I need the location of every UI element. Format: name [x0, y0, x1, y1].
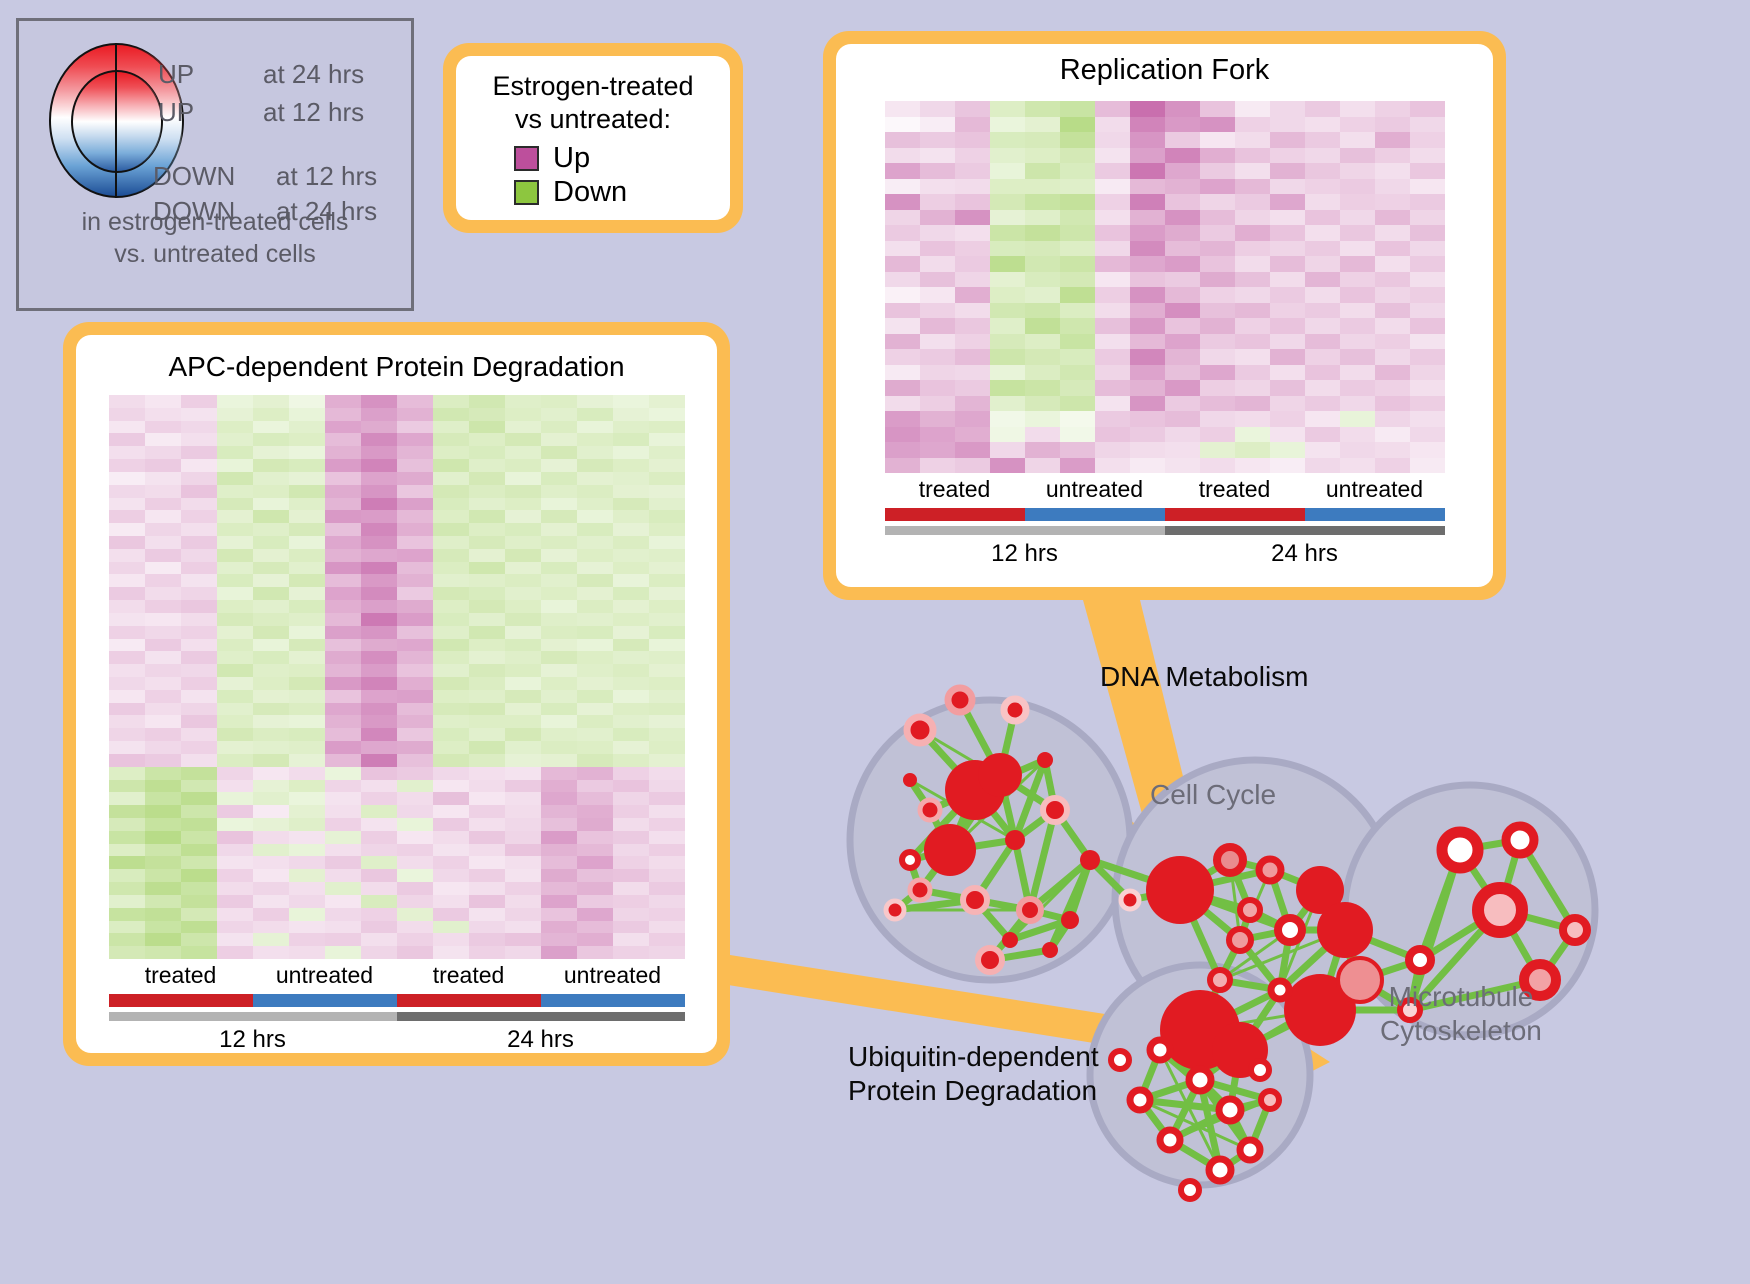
heatmap-cell	[361, 715, 397, 728]
heatmap-cell	[1410, 101, 1445, 117]
heatmap-cell	[1410, 334, 1445, 350]
heatmap-cell	[361, 844, 397, 857]
heatmap-cell	[397, 613, 433, 626]
heatmap-cell	[613, 754, 649, 767]
group-label-treated-12: treated	[885, 473, 1025, 506]
heatmap-cell	[217, 677, 253, 690]
replication-fork-group-bars	[885, 508, 1445, 521]
heatmap-cell	[109, 895, 145, 908]
heatmap-cell	[613, 574, 649, 587]
heatmap-cell	[1340, 241, 1375, 257]
heatmap-cell	[577, 446, 613, 459]
heatmap-cell	[325, 510, 361, 523]
heatmap-cell	[1410, 287, 1445, 303]
heatmap-cell	[145, 895, 181, 908]
heatmap-cell	[289, 562, 325, 575]
heatmap-cell	[397, 908, 433, 921]
heatmap-cell	[361, 498, 397, 511]
heatmap-cell	[577, 844, 613, 857]
heatmap-cell	[109, 844, 145, 857]
heatmap-cell	[920, 101, 955, 117]
heatmap-cell	[181, 690, 217, 703]
heatmap-cell	[541, 805, 577, 818]
heatmap-cell	[990, 427, 1025, 443]
heatmap-cell	[541, 690, 577, 703]
heatmap-cell	[325, 421, 361, 434]
heatmap-cell	[469, 664, 505, 677]
heatmap-cell	[1305, 334, 1340, 350]
heatmap-cell	[577, 869, 613, 882]
heatmap-cell	[217, 498, 253, 511]
heatmap-cell	[955, 117, 990, 133]
heatmap-cell	[1340, 163, 1375, 179]
heatmap-cell	[433, 626, 469, 639]
heatmap-cell	[253, 395, 289, 408]
heatmap-cell	[577, 600, 613, 613]
heatmap-cell	[1095, 117, 1130, 133]
color-key-box: UP at 24 hrs UP at 12 hrs DOWN at 12 hrs…	[16, 18, 414, 311]
heatmap-cell	[1235, 101, 1270, 117]
heatmap-cell	[505, 869, 541, 882]
heatmap-cell	[613, 818, 649, 831]
heatmap-cell	[289, 498, 325, 511]
heatmap-cell	[433, 818, 469, 831]
heatmap-cell	[920, 287, 955, 303]
heatmap-cell	[613, 869, 649, 882]
heatmap-cell	[1340, 179, 1375, 195]
heatmap-cell	[1025, 225, 1060, 241]
heatmap-cell	[577, 690, 613, 703]
heatmap-cell	[145, 408, 181, 421]
heatmap-cell	[361, 485, 397, 498]
heatmap-cell	[541, 882, 577, 895]
heatmap-cell	[361, 703, 397, 716]
heatmap-cell	[885, 442, 920, 458]
heatmap-cell	[325, 639, 361, 652]
heatmap-cell	[109, 639, 145, 652]
heatmap-cell	[577, 856, 613, 869]
heatmap-cell	[541, 613, 577, 626]
heatmap-cell	[289, 767, 325, 780]
heatmap-cell	[1025, 117, 1060, 133]
heatmap-cell	[613, 600, 649, 613]
heatmap-cell	[145, 472, 181, 485]
heatmap-cell	[1025, 427, 1060, 443]
heatmap-cell	[253, 805, 289, 818]
heatmap-cell	[397, 844, 433, 857]
heatmap-cell	[1375, 334, 1410, 350]
heatmap-cell	[1025, 194, 1060, 210]
heatmap-cell	[1340, 442, 1375, 458]
heatmap-cell	[885, 225, 920, 241]
heatmap-cell	[1340, 256, 1375, 272]
heatmap-cell	[1340, 458, 1375, 474]
heatmap-cell	[253, 741, 289, 754]
heatmap-cell	[649, 459, 685, 472]
heatmap-cell	[397, 459, 433, 472]
heatmap-cell	[217, 600, 253, 613]
heatmap-cell	[433, 613, 469, 626]
heatmap-cell	[1305, 349, 1340, 365]
heatmap-cell	[145, 818, 181, 831]
heatmap-cell	[469, 677, 505, 690]
heatmap-cell	[469, 395, 505, 408]
heatmap-cell	[1375, 396, 1410, 412]
heatmap-cell	[145, 613, 181, 626]
heatmap-cell	[253, 767, 289, 780]
heatmap-cell	[469, 908, 505, 921]
heatmap-cell	[1095, 163, 1130, 179]
heatmap-cell	[181, 715, 217, 728]
heatmap-cell	[1410, 303, 1445, 319]
heatmap-cell	[505, 395, 541, 408]
heatmap-cell	[1410, 256, 1445, 272]
heatmap-cell	[145, 831, 181, 844]
heatmap-cell	[541, 421, 577, 434]
heatmap-cell	[1410, 411, 1445, 427]
heatmap-cell	[1025, 411, 1060, 427]
heatmap-cell	[253, 703, 289, 716]
heatmap-cell	[649, 818, 685, 831]
heatmap-cell	[253, 831, 289, 844]
heatmap-cell	[1305, 303, 1340, 319]
heatmap-cell	[577, 421, 613, 434]
heatmap-cell	[397, 549, 433, 562]
heatmap-cell	[1375, 210, 1410, 226]
apc-group-label-untreated-12: untreated	[253, 959, 397, 992]
heatmap-cell	[990, 117, 1025, 133]
heatmap-cell	[613, 472, 649, 485]
heatmap-cell	[109, 613, 145, 626]
legend-title: Estrogen-treated vs untreated:	[456, 56, 730, 136]
heatmap-cell	[433, 446, 469, 459]
heatmap-cell	[109, 651, 145, 664]
heatmap-cell	[1130, 225, 1165, 241]
heatmap-cell	[1060, 303, 1095, 319]
heatmap-cell	[1270, 272, 1305, 288]
heatmap-cell	[1200, 132, 1235, 148]
heatmap-cell	[1025, 396, 1060, 412]
heatmap-cell	[505, 639, 541, 652]
heatmap-cell	[613, 767, 649, 780]
heatmap-cell	[361, 664, 397, 677]
heatmap-cell	[1375, 303, 1410, 319]
heatmap-cell	[1025, 458, 1060, 474]
heatmap-cell	[145, 498, 181, 511]
heatmap-cell	[1095, 272, 1130, 288]
heatmap-cell	[649, 715, 685, 728]
heatmap-cell	[217, 767, 253, 780]
heatmap-cell	[920, 427, 955, 443]
heatmap-cell	[469, 446, 505, 459]
heatmap-cell	[145, 421, 181, 434]
heatmap-cell	[145, 433, 181, 446]
heatmap-cell	[109, 856, 145, 869]
heatmap-cell	[469, 792, 505, 805]
heatmap-cell	[649, 741, 685, 754]
heatmap-cell	[289, 780, 325, 793]
heatmap-cell	[469, 408, 505, 421]
heatmap-cell	[469, 562, 505, 575]
heatmap-cell	[1095, 380, 1130, 396]
heatmap-cell	[217, 754, 253, 767]
heatmap-cell	[1235, 179, 1270, 195]
heatmap-cell	[1165, 179, 1200, 195]
heatmap-cell	[1235, 303, 1270, 319]
heatmap-cell	[145, 792, 181, 805]
heatmap-cell	[1200, 411, 1235, 427]
heatmap-cell	[541, 869, 577, 882]
heatmap-cell	[109, 459, 145, 472]
heatmap-cell	[433, 780, 469, 793]
heatmap-cell	[253, 921, 289, 934]
heatmap-cell	[289, 856, 325, 869]
heatmap-cell	[1165, 241, 1200, 257]
heatmap-cell	[1200, 349, 1235, 365]
heatmap-cell	[181, 626, 217, 639]
heatmap-cell	[181, 869, 217, 882]
heatmap-cell	[541, 574, 577, 587]
heatmap-cell	[217, 639, 253, 652]
heatmap-cell	[289, 626, 325, 639]
heatmap-cell	[181, 549, 217, 562]
heatmap-cell	[325, 574, 361, 587]
heatmap-cell	[397, 831, 433, 844]
network-diagram: DNA Metabolism Cell Cycle Microtubule Cy…	[800, 610, 1750, 1279]
heatmap-cell	[1270, 318, 1305, 334]
heatmap-cell	[990, 241, 1025, 257]
heatmap-cell	[217, 818, 253, 831]
heatmap-cell	[1305, 380, 1340, 396]
heatmap-cell	[145, 562, 181, 575]
heatmap-cell	[145, 933, 181, 946]
heatmap-cell	[217, 933, 253, 946]
heatmap-cell	[990, 194, 1025, 210]
heatmap-cell	[361, 818, 397, 831]
heatmap-cell	[885, 194, 920, 210]
heatmap-cell	[505, 703, 541, 716]
heatmap-cell	[613, 703, 649, 716]
apc-group-bar-untreated-12	[253, 994, 397, 1007]
heatmap-cell	[1095, 241, 1130, 257]
heatmap-cell	[541, 510, 577, 523]
heatmap-cell	[109, 600, 145, 613]
heatmap-cell	[433, 574, 469, 587]
heatmap-cell	[1200, 117, 1235, 133]
heatmap-cell	[1130, 101, 1165, 117]
heatmap-cell	[181, 805, 217, 818]
heatmap-cell	[613, 780, 649, 793]
cluster-label-ubiquitin-protein-degradation: Ubiquitin-dependent Protein Degradation	[848, 1040, 1099, 1108]
heatmap-cell	[1060, 287, 1095, 303]
heatmap-cell	[145, 741, 181, 754]
heatmap-cell	[325, 677, 361, 690]
time-bar-24hrs	[1165, 526, 1445, 535]
heatmap-cell	[181, 792, 217, 805]
heatmap-cell	[1200, 241, 1235, 257]
apc-group-bar-treated-12	[109, 994, 253, 1007]
heatmap-cell	[1340, 272, 1375, 288]
heatmap-cell	[397, 818, 433, 831]
heatmap-cell	[289, 536, 325, 549]
heatmap-cell	[361, 792, 397, 805]
heatmap-cell	[505, 613, 541, 626]
heatmap-cell	[253, 882, 289, 895]
heatmap-cell	[397, 433, 433, 446]
replication-fork-panel: Replication Fork treated untreated treat…	[823, 31, 1506, 600]
heatmap-cell	[990, 132, 1025, 148]
heatmap-cell	[289, 690, 325, 703]
heatmap-cell	[1165, 427, 1200, 443]
heatmap-cell	[1305, 365, 1340, 381]
heatmap-cell	[1270, 411, 1305, 427]
heatmap-cell	[577, 728, 613, 741]
heatmap-cell	[253, 574, 289, 587]
heatmap-cell	[649, 498, 685, 511]
heatmap-cell	[1410, 117, 1445, 133]
heatmap-cell	[505, 856, 541, 869]
heatmap-cell	[1165, 210, 1200, 226]
heatmap-cell	[253, 818, 289, 831]
heatmap-cell	[217, 613, 253, 626]
heatmap-cell	[397, 523, 433, 536]
heatmap-cell	[955, 411, 990, 427]
heatmap-cell	[325, 651, 361, 664]
heatmap-cell	[181, 651, 217, 664]
heatmap-cell	[217, 523, 253, 536]
heatmap-cell	[181, 741, 217, 754]
heatmap-cell	[325, 690, 361, 703]
heatmap-cell	[325, 933, 361, 946]
heatmap-cell	[613, 882, 649, 895]
heatmap-cell	[1095, 132, 1130, 148]
heatmap-cell	[1270, 303, 1305, 319]
heatmap-cell	[217, 741, 253, 754]
heatmap-cell	[1165, 272, 1200, 288]
heatmap-cell	[541, 395, 577, 408]
heatmap-cell	[541, 818, 577, 831]
heatmap-cell	[577, 510, 613, 523]
heatmap-cell	[325, 869, 361, 882]
heatmap-cell	[361, 395, 397, 408]
heatmap-cell	[505, 767, 541, 780]
heatmap-cell	[1410, 349, 1445, 365]
heatmap-cell	[253, 549, 289, 562]
heatmap-cell	[613, 510, 649, 523]
heatmap-cell	[541, 677, 577, 690]
heatmap-cell	[1340, 365, 1375, 381]
heatmap-cell	[1060, 148, 1095, 164]
heatmap-cell	[1060, 318, 1095, 334]
heatmap-cell	[649, 844, 685, 857]
group-bar-treated-12	[885, 508, 1025, 521]
heatmap-cell	[1305, 194, 1340, 210]
heatmap-cell	[577, 792, 613, 805]
heatmap-cell	[577, 523, 613, 536]
heatmap-cell	[289, 587, 325, 600]
heatmap-cell	[1410, 132, 1445, 148]
heatmap-cell	[541, 408, 577, 421]
heatmap-cell	[361, 805, 397, 818]
heatmap-cell	[361, 536, 397, 549]
heatmap-cell	[325, 446, 361, 459]
heatmap-cell	[613, 639, 649, 652]
heatmap-cell	[577, 664, 613, 677]
heatmap-cell	[990, 365, 1025, 381]
heatmap-cell	[145, 754, 181, 767]
time-label-24hrs: 24 hrs	[1165, 535, 1445, 568]
heatmap-cell	[920, 132, 955, 148]
heatmap-cell	[1305, 210, 1340, 226]
heatmap-cell	[109, 869, 145, 882]
heatmap-cell	[145, 869, 181, 882]
heatmap-cell	[1375, 427, 1410, 443]
heatmap-cell	[1235, 396, 1270, 412]
heatmap-cell	[1270, 210, 1305, 226]
heatmap-cell	[920, 458, 955, 474]
heatmap-cell	[361, 690, 397, 703]
heatmap-cell	[1130, 210, 1165, 226]
heatmap-cell	[109, 703, 145, 716]
heatmap-cell	[433, 715, 469, 728]
heatmap-cell	[109, 831, 145, 844]
apc-group-label-treated-24: treated	[397, 959, 541, 992]
heatmap-cell	[289, 882, 325, 895]
heatmap-cell	[990, 349, 1025, 365]
heatmap-cell	[613, 587, 649, 600]
heatmap-cell	[289, 805, 325, 818]
heatmap-cell	[109, 562, 145, 575]
replication-fork-heatmap	[885, 101, 1445, 473]
heatmap-cell	[397, 895, 433, 908]
heatmap-cell	[325, 856, 361, 869]
heatmap-cell	[397, 421, 433, 434]
heatmap-cell	[505, 549, 541, 562]
heatmap-cell	[1305, 272, 1340, 288]
heatmap-cell	[253, 421, 289, 434]
heatmap-cell	[433, 639, 469, 652]
heatmap-cell	[613, 549, 649, 562]
ring-divider	[115, 43, 117, 198]
heatmap-cell	[289, 549, 325, 562]
heatmap-cell	[1130, 349, 1165, 365]
heatmap-cell	[1025, 256, 1060, 272]
heatmap-cell	[145, 587, 181, 600]
heatmap-cell	[990, 287, 1025, 303]
heatmap-cell	[397, 472, 433, 485]
heatmap-cell	[577, 946, 613, 959]
heatmap-cell	[1165, 365, 1200, 381]
heatmap-cell	[1410, 380, 1445, 396]
heatmap-cell	[1270, 225, 1305, 241]
heatmap-cell	[1340, 380, 1375, 396]
heatmap-cell	[109, 921, 145, 934]
heatmap-cell	[397, 690, 433, 703]
heatmap-cell	[1095, 194, 1130, 210]
heatmap-cell	[1235, 442, 1270, 458]
heatmap-cell	[469, 574, 505, 587]
heatmap-cell	[1375, 256, 1410, 272]
heatmap-cell	[505, 933, 541, 946]
heatmap-cell	[541, 587, 577, 600]
heatmap-cell	[145, 536, 181, 549]
heatmap-cell	[1340, 210, 1375, 226]
heatmap-cell	[613, 792, 649, 805]
heatmap-cell	[361, 677, 397, 690]
heatmap-cell	[1305, 396, 1340, 412]
heatmap-cell	[361, 728, 397, 741]
heatmap-cell	[1340, 349, 1375, 365]
